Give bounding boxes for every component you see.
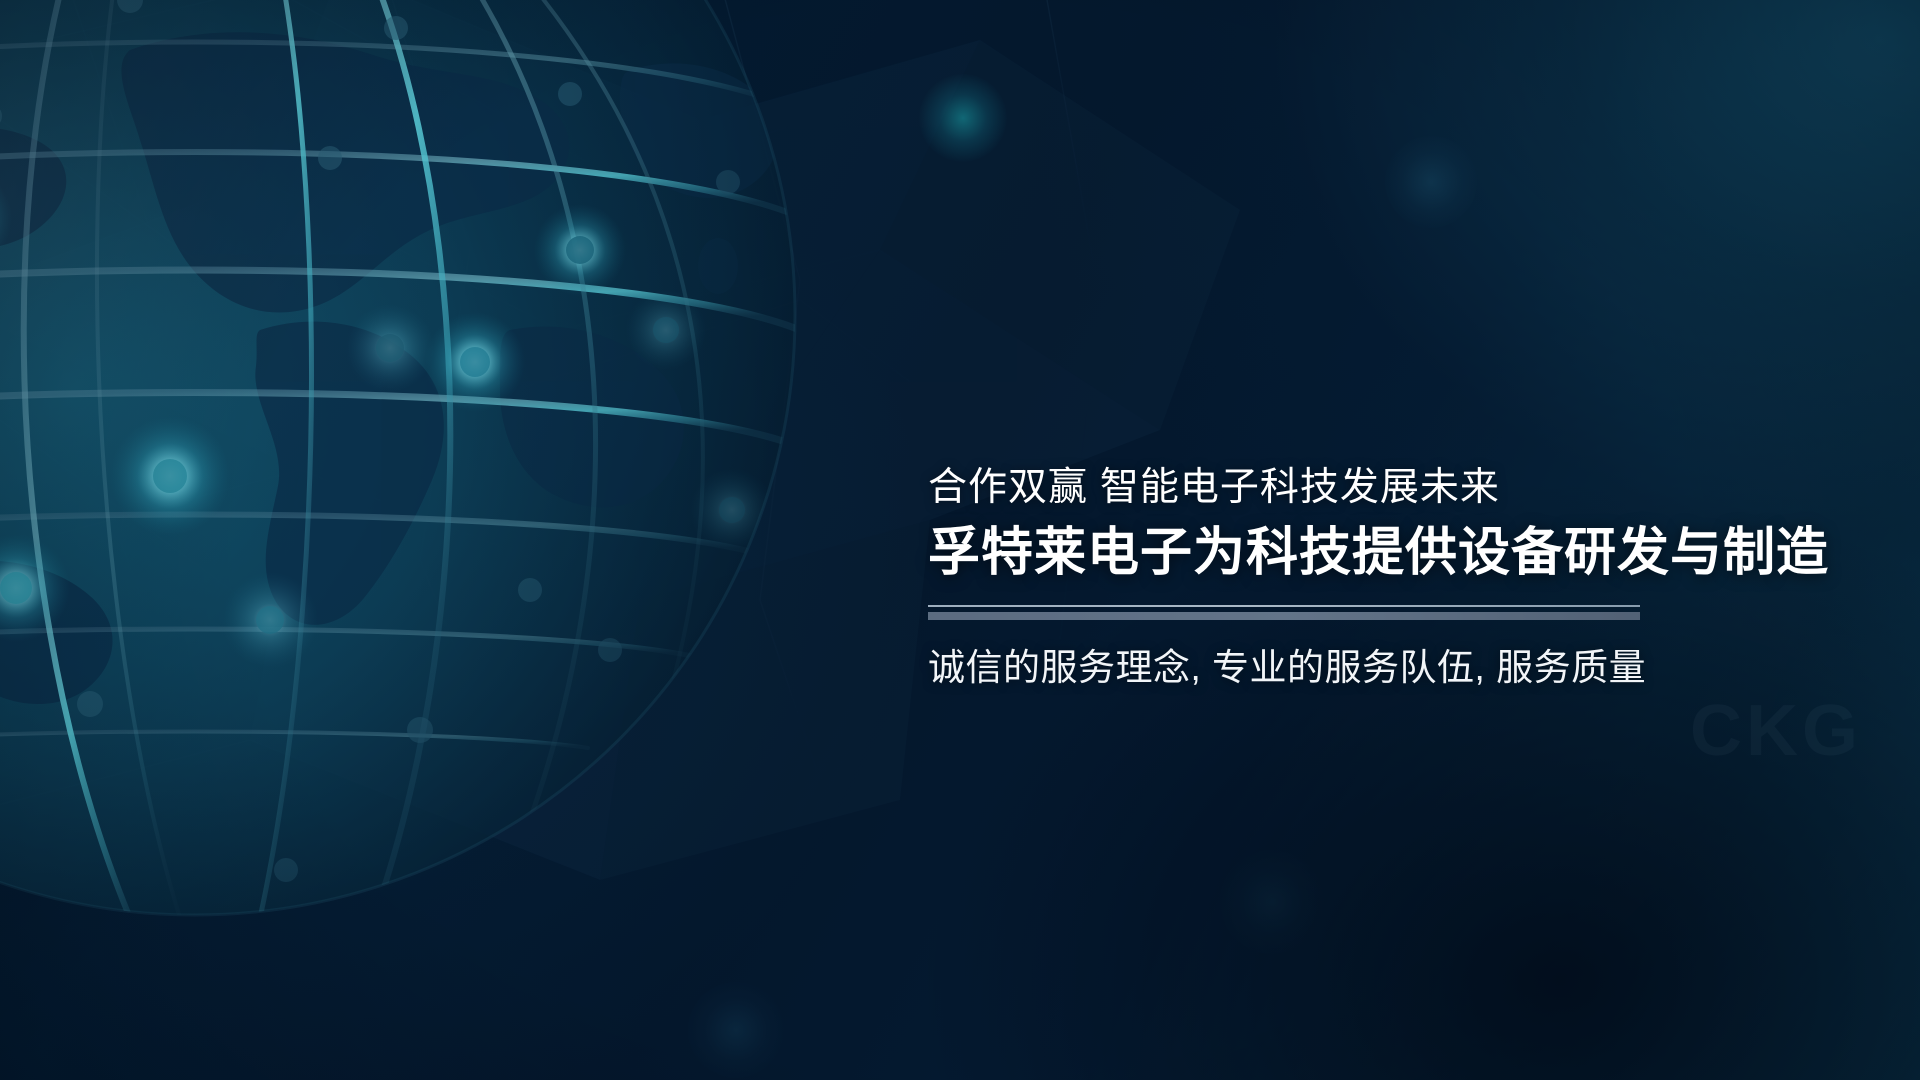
hero-headline: 孚特莱电子为科技提供设备研发与制造 bbox=[928, 524, 1908, 582]
hero-eyebrow: 合作双赢 智能电子科技发展未来 bbox=[928, 466, 1908, 510]
hero-text-block: 合作双赢 智能电子科技发展未来 孚特莱电子为科技提供设备研发与制造 诚信的服务理… bbox=[928, 466, 1908, 690]
hero-divider bbox=[928, 605, 1640, 619]
divider-thick-bar bbox=[928, 612, 1640, 620]
hero-banner: CKG 合作双赢 智能电子科技发展未来 孚特莱电子为科技提供设备研发与制造 诚信… bbox=[0, 0, 1920, 1080]
hero-subtitle: 诚信的服务理念, 专业的服务队伍, 服务质量 bbox=[928, 646, 1908, 690]
divider-thin-rule bbox=[928, 605, 1640, 607]
